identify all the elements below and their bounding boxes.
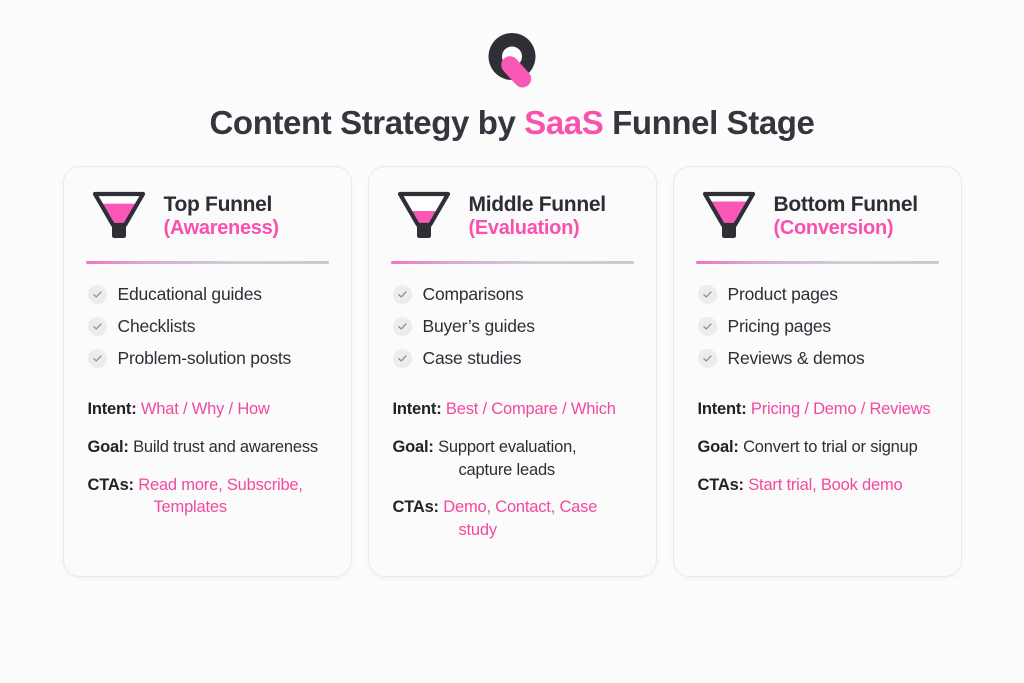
meta-goal-value: Convert to trial or signup (743, 438, 918, 456)
meta-goal: Goal: Convert to trial or signup (698, 436, 939, 459)
meta-ctas: CTAs: Read more, Subscribe, Templates (88, 474, 329, 520)
check-circle-icon (698, 317, 717, 336)
meta-intent-value: Pricing / Demo / Reviews (751, 400, 931, 418)
check-circle-icon (88, 317, 107, 336)
meta-intent-label: Intent: (88, 400, 137, 418)
meta-ctas-label: CTAs: (88, 476, 134, 494)
list-item: Product pages (698, 284, 939, 305)
list-item-label: Problem-solution posts (118, 348, 292, 369)
card-header: Bottom Funnel (Conversion) (696, 185, 939, 247)
card-subtitle: (Evaluation) (469, 217, 606, 239)
funnel-icon (698, 185, 760, 247)
check-circle-icon (698, 285, 717, 304)
list-item: Reviews & demos (698, 348, 939, 369)
meta-goal-label: Goal: (393, 438, 434, 456)
card-meta: Intent: Pricing / Demo / Reviews Goal: C… (696, 398, 939, 496)
meta-intent: Intent: Pricing / Demo / Reviews (698, 398, 939, 421)
card-title: Bottom Funnel (774, 193, 918, 217)
list-item-label: Checklists (118, 316, 196, 337)
meta-ctas-label: CTAs: (393, 498, 439, 516)
card-subtitle: (Conversion) (774, 217, 918, 239)
card-bottom-funnel[interactable]: Bottom Funnel (Conversion) Product pages (673, 166, 962, 577)
check-circle-icon (88, 285, 107, 304)
content-checklist: Comparisons Buyer’s guides Case studies (391, 284, 634, 380)
card-title: Top Funnel (164, 193, 279, 217)
card-meta: Intent: Best / Compare / Which Goal: Sup… (391, 398, 634, 542)
list-item-label: Case studies (423, 348, 522, 369)
content-checklist: Educational guides Checklists Problem-so… (86, 284, 329, 380)
funnel-icon (88, 185, 150, 247)
check-circle-icon (88, 349, 107, 368)
page-title-accent: SaaS (524, 104, 603, 141)
meta-goal: Goal: Build trust and awareness (88, 436, 329, 459)
meta-ctas-value: Demo, Contact, Case study (443, 498, 597, 539)
list-item: Checklists (88, 316, 329, 337)
list-item: Educational guides (88, 284, 329, 305)
card-meta: Intent: What / Why / How Goal: Build tru… (86, 398, 329, 519)
list-item-label: Product pages (728, 284, 838, 305)
card-divider (391, 261, 634, 264)
card-header-text: Bottom Funnel (Conversion) (774, 193, 918, 239)
list-item-label: Buyer’s guides (423, 316, 535, 337)
logo-container (0, 0, 1024, 90)
list-item-label: Pricing pages (728, 316, 831, 337)
funnel-icon (393, 185, 455, 247)
card-header: Top Funnel (Awareness) (86, 185, 329, 247)
meta-intent-value: What / Why / How (141, 400, 270, 418)
meta-intent: Intent: What / Why / How (88, 398, 329, 421)
meta-ctas: CTAs: Start trial, Book demo (698, 474, 939, 497)
check-circle-icon (393, 349, 412, 368)
funnel-cards-row: Top Funnel (Awareness) Educational guide… (0, 166, 1024, 577)
list-item: Pricing pages (698, 316, 939, 337)
meta-goal-value: Build trust and awareness (133, 438, 318, 456)
list-item: Problem-solution posts (88, 348, 329, 369)
meta-goal: Goal: Support evaluation, capture leads (393, 436, 634, 482)
meta-intent-label: Intent: (393, 400, 442, 418)
content-checklist: Product pages Pricing pages Reviews & de… (696, 284, 939, 380)
list-item: Buyer’s guides (393, 316, 634, 337)
check-circle-icon (698, 349, 717, 368)
page-title: Content Strategy by SaaS Funnel Stage (0, 104, 1024, 142)
meta-ctas-value: Read more, Subscribe, Templates (138, 476, 303, 517)
card-middle-funnel[interactable]: Middle Funnel (Evaluation) Comparisons (368, 166, 657, 577)
meta-goal-value: Support evaluation, capture leads (438, 438, 576, 479)
card-divider (86, 261, 329, 264)
meta-intent-label: Intent: (698, 400, 747, 418)
card-top-funnel[interactable]: Top Funnel (Awareness) Educational guide… (63, 166, 352, 577)
card-divider (696, 261, 939, 264)
meta-ctas-value: Start trial, Book demo (748, 476, 902, 494)
card-header: Middle Funnel (Evaluation) (391, 185, 634, 247)
list-item-label: Comparisons (423, 284, 524, 305)
meta-goal-label: Goal: (88, 438, 129, 456)
list-item-label: Reviews & demos (728, 348, 865, 369)
list-item-label: Educational guides (118, 284, 262, 305)
card-header-text: Top Funnel (Awareness) (164, 193, 279, 239)
page-title-before: Content Strategy by (210, 104, 525, 141)
check-circle-icon (393, 285, 412, 304)
meta-goal-label: Goal: (698, 438, 739, 456)
meta-ctas-label: CTAs: (698, 476, 744, 494)
meta-intent-value: Best / Compare / Which (446, 400, 616, 418)
check-circle-icon (393, 317, 412, 336)
list-item: Case studies (393, 348, 634, 369)
card-subtitle: (Awareness) (164, 217, 279, 239)
meta-intent: Intent: Best / Compare / Which (393, 398, 634, 421)
list-item: Comparisons (393, 284, 634, 305)
card-title: Middle Funnel (469, 193, 606, 217)
q-logo-icon (476, 30, 548, 90)
page-title-after: Funnel Stage (603, 104, 814, 141)
meta-ctas: CTAs: Demo, Contact, Case study (393, 496, 634, 542)
card-header-text: Middle Funnel (Evaluation) (469, 193, 606, 239)
